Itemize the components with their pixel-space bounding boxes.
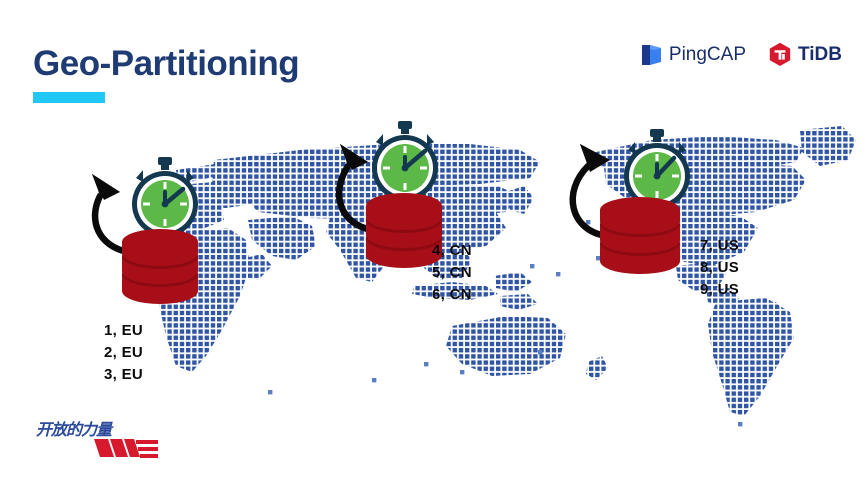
- label-row: 6, CN: [432, 284, 472, 306]
- label-row: 4, CN: [432, 240, 472, 262]
- database-stack-icon-eu: [118, 228, 202, 308]
- pingcap-logo: PingCAP: [641, 43, 746, 67]
- label-row: 9, US: [700, 279, 739, 301]
- label-row: 3, EU: [104, 364, 143, 386]
- label-row: 2, EU: [104, 342, 143, 364]
- database-stack-icon-us: [596, 195, 684, 279]
- page-title: Geo-Partitioning: [33, 44, 299, 84]
- label-row: 8, US: [700, 257, 739, 279]
- footer-logo: 开放的力量: [36, 413, 158, 465]
- slide-root: Geo-Partitioning PingCAP TiDB: [0, 0, 866, 481]
- tidb-logo: TiDB: [768, 42, 842, 67]
- label-row: 7, US: [700, 235, 739, 257]
- footer-chevron-icon: [92, 435, 158, 461]
- region-labels-us: 7, US 8, US 9, US: [700, 235, 739, 301]
- brand-logo-row: PingCAP TiDB: [641, 42, 842, 67]
- label-row: 5, CN: [432, 262, 472, 284]
- pingcap-logo-text: PingCAP: [669, 44, 746, 66]
- tidb-mark-icon: [768, 42, 792, 67]
- label-row: 1, EU: [104, 320, 143, 342]
- pingcap-mark-icon: [641, 43, 663, 67]
- region-labels-eu: 1, EU 2, EU 3, EU: [104, 320, 143, 386]
- region-labels-cn: 4, CN 5, CN 6, CN: [432, 240, 472, 306]
- tidb-logo-text: TiDB: [798, 44, 842, 66]
